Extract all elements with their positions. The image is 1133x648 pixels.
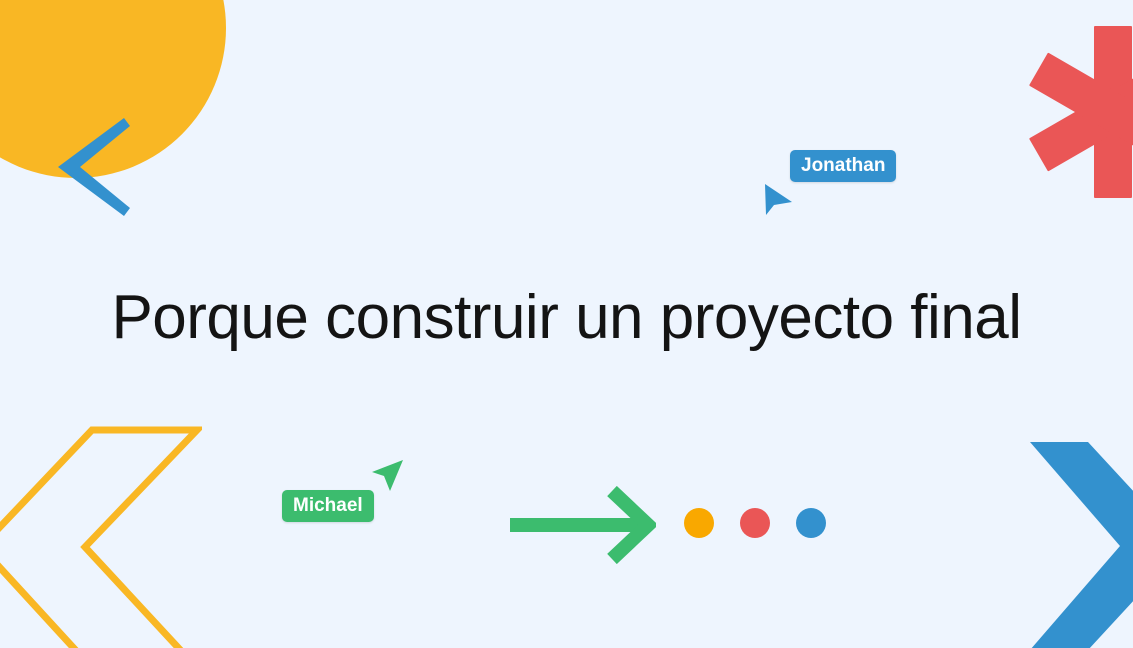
collaborator-cursor-jonathan[interactable]: Jonathan <box>762 150 922 222</box>
cursor-pointer-icon <box>370 458 406 494</box>
dot-blue <box>796 508 826 538</box>
dot-red <box>740 508 770 538</box>
dot-orange <box>684 508 714 538</box>
chevron-left-outline-icon <box>0 425 202 648</box>
asterisk-icon <box>1018 8 1133 198</box>
slide-canvas: Porque construir un proyecto final Jonat… <box>0 0 1133 648</box>
arrow-right-icon <box>508 486 656 564</box>
chevron-right-icon <box>1020 442 1133 648</box>
collaborator-name-badge: Jonathan <box>790 150 896 182</box>
chevron-left-icon <box>58 118 130 216</box>
collaborator-cursor-michael[interactable]: Michael <box>282 458 417 532</box>
page-title: Porque construir un proyecto final <box>0 282 1133 353</box>
cursor-pointer-icon <box>762 182 798 218</box>
collaborator-name-badge: Michael <box>282 490 374 522</box>
